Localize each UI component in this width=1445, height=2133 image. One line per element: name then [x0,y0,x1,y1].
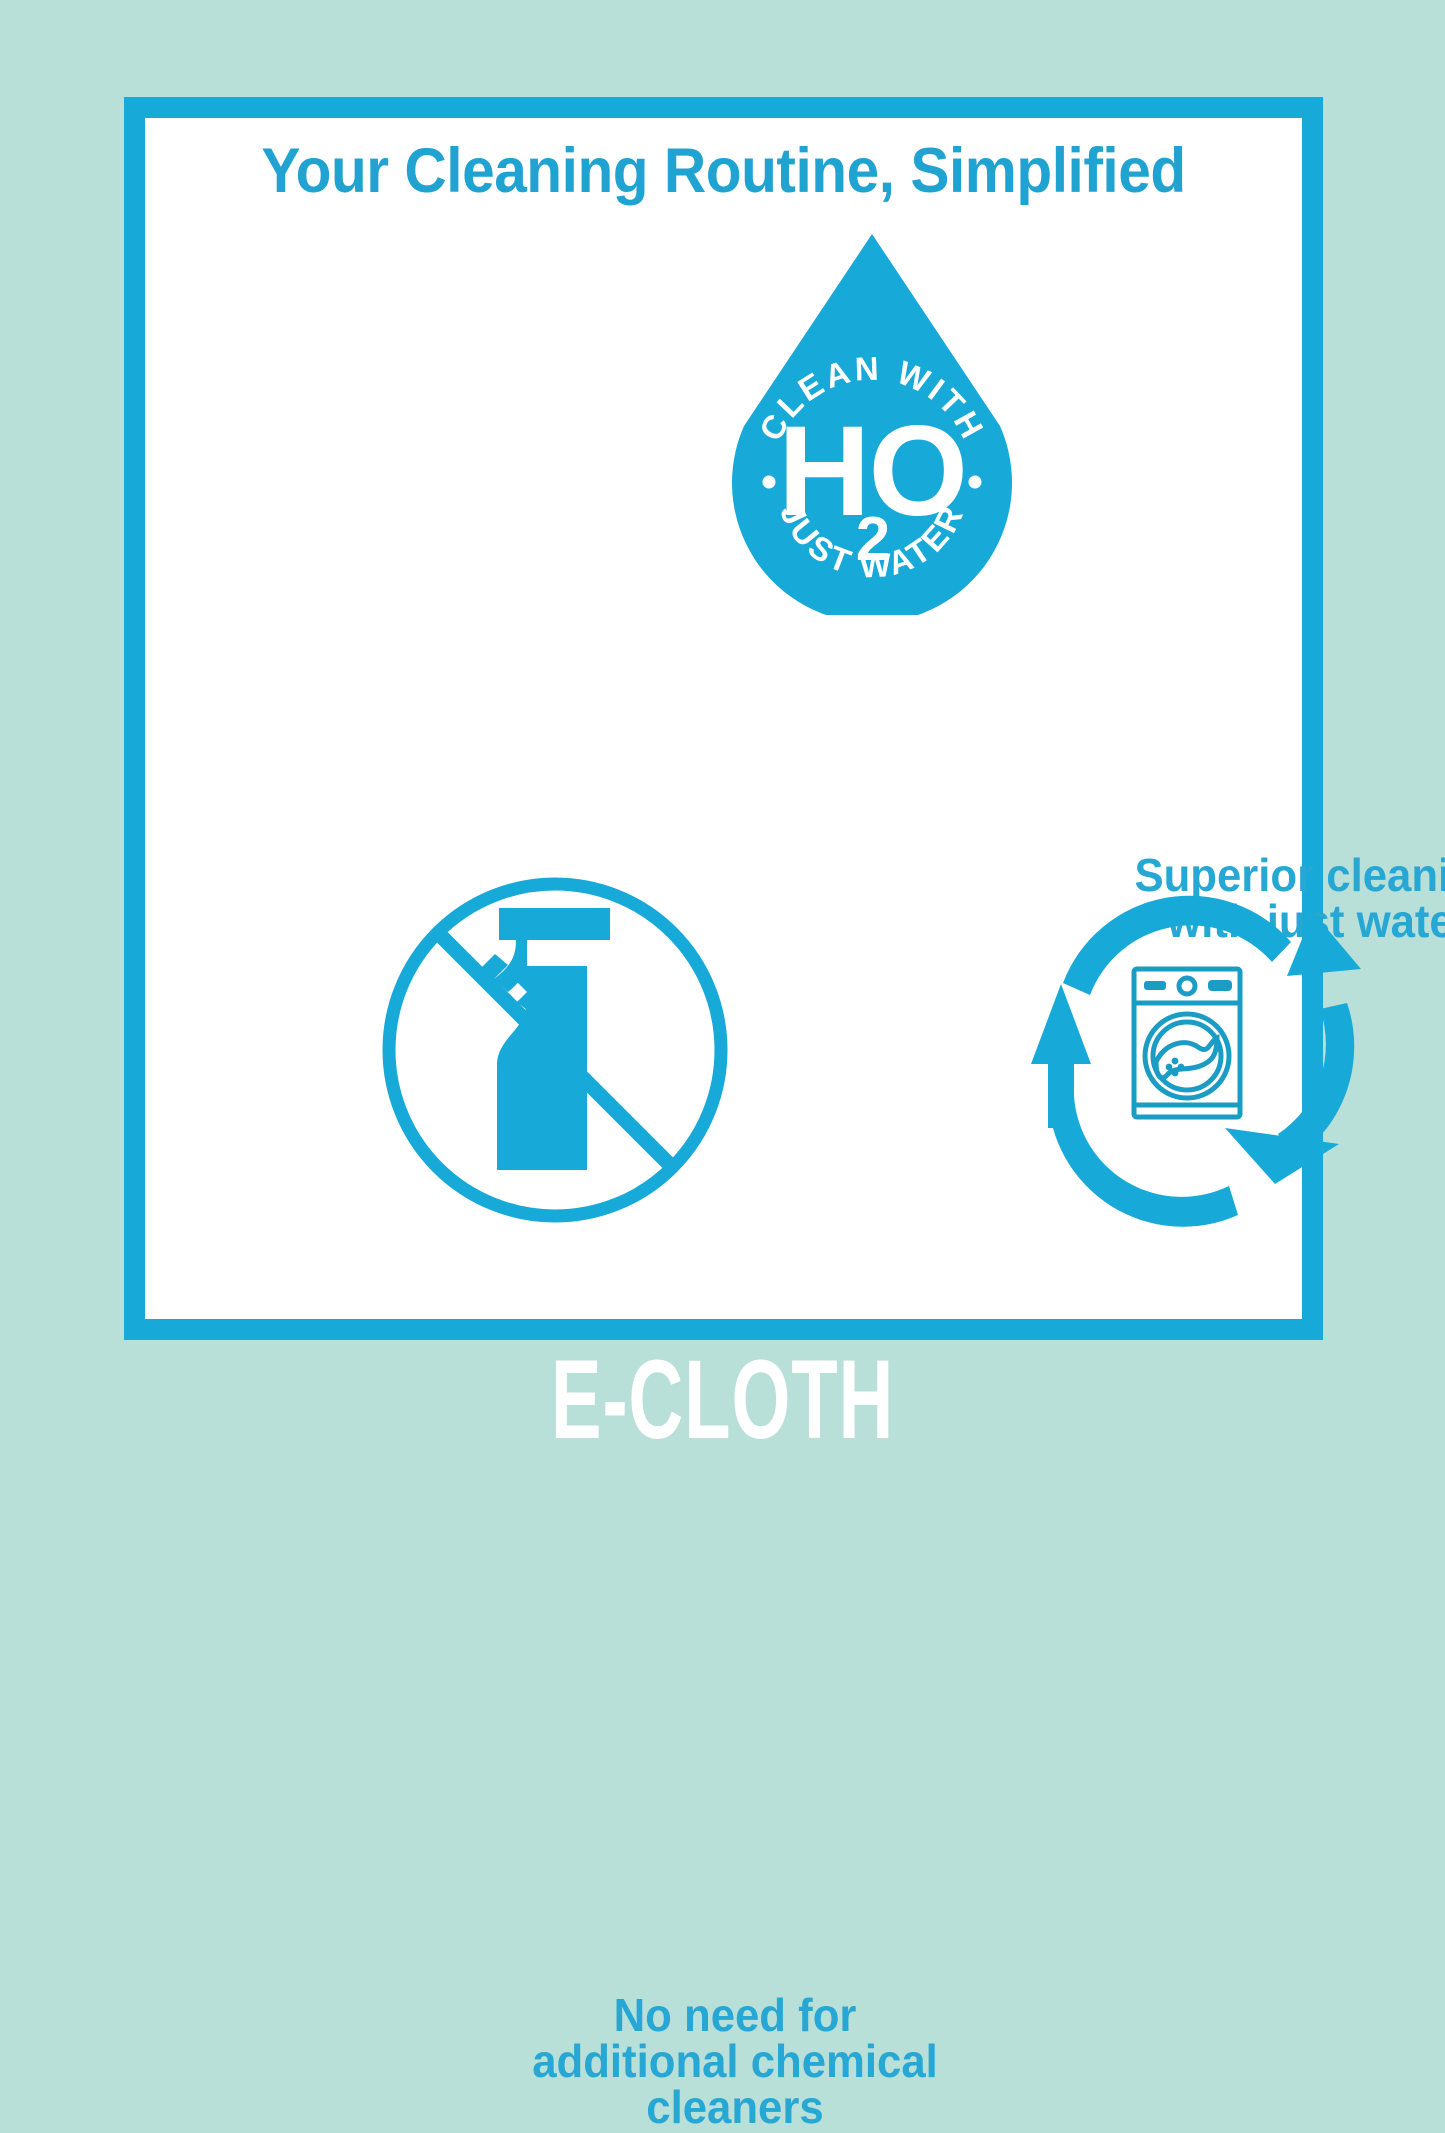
badge-dot-left [763,476,776,489]
brand-wordmark: E-CLOTH [145,1345,1301,1457]
feature-wash-promise: At least 1 Year/100 Wash Promise [945,866,1425,1246]
recycle-arc-bottom [1048,1094,1238,1227]
page-title: Your Cleaning Routine, Simplified [185,138,1261,204]
infographic-poster: Your Cleaning Routine, Simplified CLEAN … [0,0,1445,1445]
feature-caption-no-chemicals: No need for additional chemical cleaners [469,1992,1001,2130]
no-spray-bottle-icon [375,870,735,1230]
framed-content-card: Your Cleaning Routine, Simplified CLEAN … [124,97,1323,1340]
spray-bottle-shape [481,908,610,1170]
recycle-washing-machine-icon [995,866,1375,1234]
badge-formula-subscript: 2 [856,505,890,574]
feature-no-chemicals: No need for additional chemical cleaners [315,870,795,1250]
badge-dot-right [969,476,982,489]
feature-superior-cleaning: CLEAN WITH JUST WATER HO 2 Superior clea… [592,230,1152,840]
washing-machine-shape [1134,969,1240,1117]
recycle-arc-right [1225,1003,1354,1184]
water-drop-badge-icon: CLEAN WITH JUST WATER HO 2 [717,230,1027,615]
